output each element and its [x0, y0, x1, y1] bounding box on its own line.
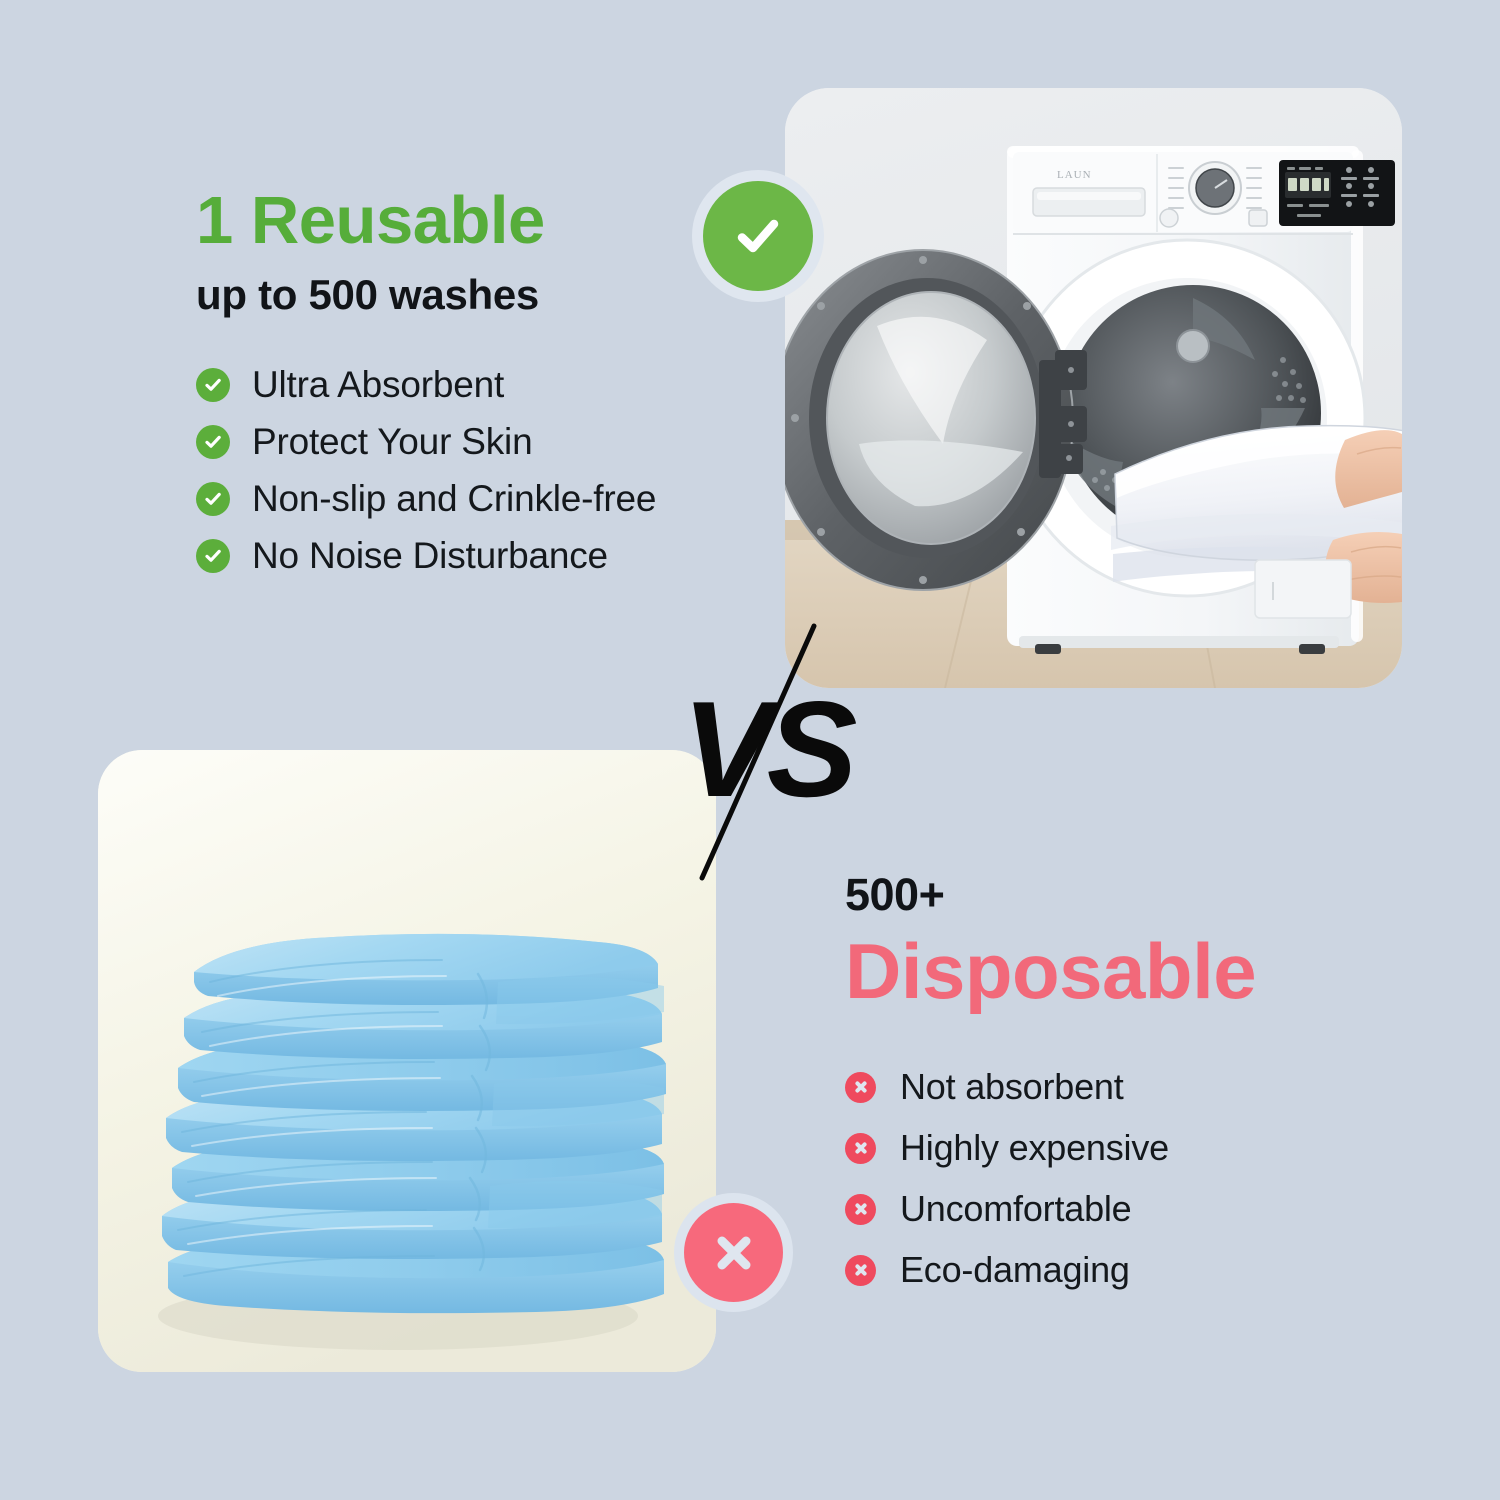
x-circle-icon [845, 1255, 876, 1286]
x-circle-icon [845, 1194, 876, 1225]
list-item: Protect Your Skin [196, 414, 716, 471]
reusable-headline: 1 Reusable [196, 186, 716, 256]
x-circle-icon [845, 1133, 876, 1164]
drawback-label: Not absorbent [900, 1066, 1124, 1108]
disposable-stack-photo [98, 750, 716, 1372]
svg-text:VS: VS [682, 673, 857, 825]
check-circle-icon [196, 539, 230, 573]
list-item: Not absorbent [845, 1057, 1405, 1118]
drawback-label: Uncomfortable [900, 1188, 1132, 1230]
list-item: Uncomfortable [845, 1179, 1405, 1240]
disposable-text-block: 500+ Disposable Not absorbent Highly exp… [845, 872, 1405, 1301]
list-item: No Noise Disturbance [196, 528, 716, 585]
list-item: Non-slip and Crinkle-free [196, 471, 716, 528]
reusable-benefits-list: Ultra Absorbent Protect Your Skin Non-sl… [196, 357, 716, 585]
vs-divider-icon: VS [676, 616, 866, 886]
list-item: Highly expensive [845, 1118, 1405, 1179]
benefit-label: Non-slip and Crinkle-free [252, 478, 656, 520]
check-badge-icon [703, 181, 813, 291]
list-item: Ultra Absorbent [196, 357, 716, 414]
disposable-count: 500+ [845, 872, 1405, 917]
x-badge-icon [684, 1203, 783, 1302]
check-circle-icon [196, 368, 230, 402]
check-circle-icon [196, 482, 230, 516]
drawback-label: Eco-damaging [900, 1249, 1130, 1291]
check-circle-icon [196, 425, 230, 459]
infographic-canvas: LAUN [0, 0, 1500, 1500]
list-item: Eco-damaging [845, 1240, 1405, 1301]
benefit-label: No Noise Disturbance [252, 535, 608, 577]
benefit-label: Ultra Absorbent [252, 364, 504, 406]
disposable-drawbacks-list: Not absorbent Highly expensive Uncomfort… [845, 1057, 1405, 1301]
svg-text:LAUN: LAUN [1057, 169, 1092, 181]
x-circle-icon [845, 1072, 876, 1103]
disposable-headline: Disposable [845, 931, 1405, 1013]
reusable-text-block: 1 Reusable up to 500 washes Ultra Absorb… [196, 186, 716, 585]
benefit-label: Protect Your Skin [252, 421, 532, 463]
drawback-label: Highly expensive [900, 1127, 1169, 1169]
washing-machine-photo: LAUN [785, 88, 1402, 688]
reusable-subheadline: up to 500 washes [196, 272, 716, 318]
